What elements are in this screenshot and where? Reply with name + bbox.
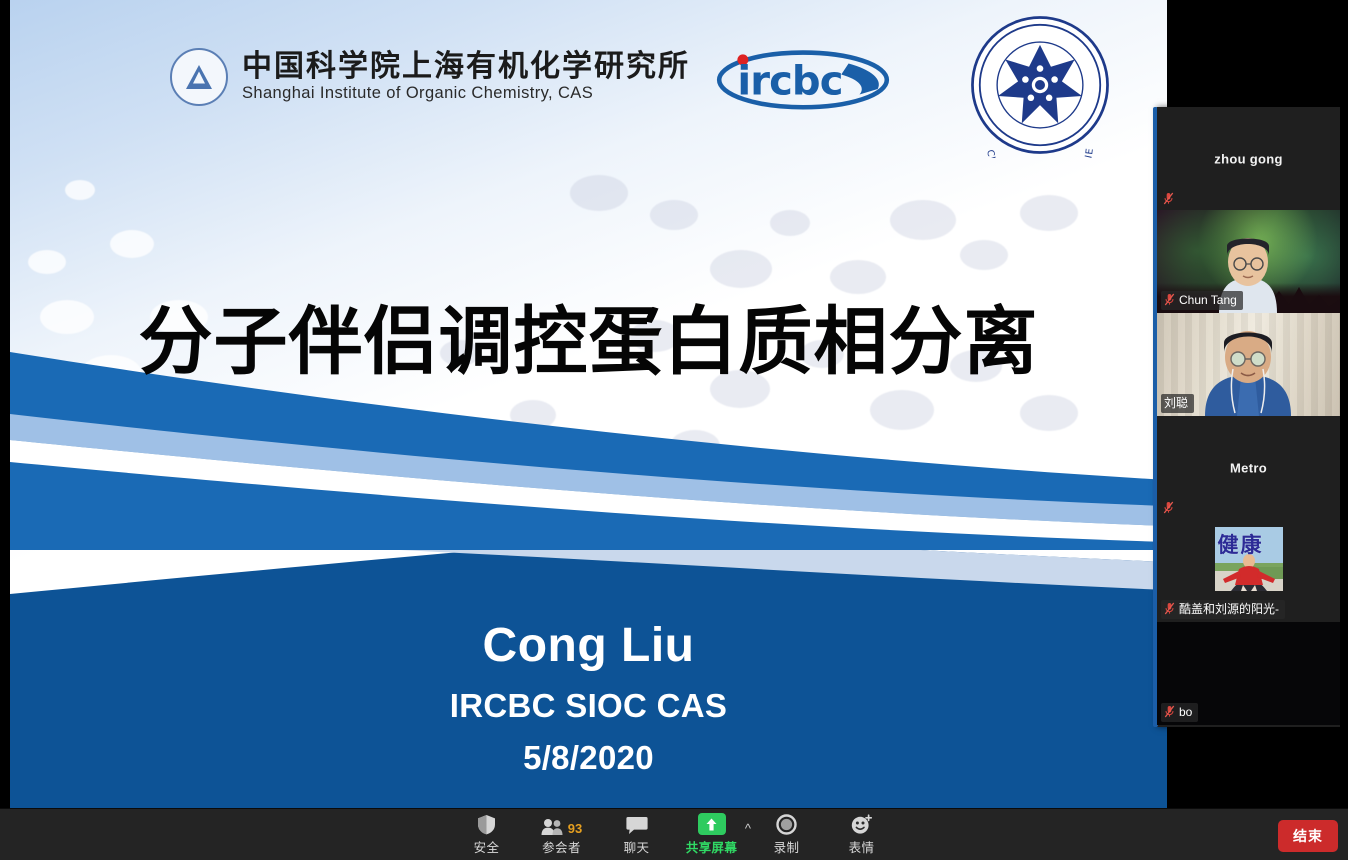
toolbar-label: 参会者 <box>542 837 581 856</box>
mic-off-icon <box>1164 602 1175 615</box>
people-icon: 93 <box>541 814 582 835</box>
presentation-slide: 中国科学院上海有机化学研究所 Shanghai Institute of Org… <box>10 0 1167 808</box>
participant-tile-chun-tang[interactable]: Chun Tang <box>1157 210 1340 313</box>
participant-filmstrip[interactable]: zhou gong <box>1157 107 1340 727</box>
toolbar-button-reactions[interactable]: 表情 <box>824 809 899 860</box>
mic-off-icon <box>1164 705 1175 718</box>
participant-name: 酷盖和刘源的阳光- <box>1179 601 1279 617</box>
toolbar-button-participants[interactable]: 93 参会者 <box>524 809 599 860</box>
zoom-meeting-window: 中国科学院上海有机化学研究所 Shanghai Institute of Org… <box>0 0 1348 860</box>
toolbar-label: 安全 <box>474 837 500 856</box>
participant-avatar: 健康 <box>1215 527 1283 591</box>
avatar-overlay-text: 健康 <box>1218 529 1280 559</box>
presentation-date: 5/8/2020 <box>10 739 1167 777</box>
participant-name-badge: 酷盖和刘源的阳光- <box>1161 600 1285 619</box>
mute-badge <box>1161 191 1180 207</box>
slide-speaker-block: Cong Liu IRCBC SIOC CAS 5/8/2020 <box>10 618 1167 777</box>
sioc-logo-chinese: 中国科学院上海有机化学研究所 <box>242 52 690 83</box>
shield-icon <box>477 814 496 835</box>
mic-off-icon <box>1163 192 1174 205</box>
end-meeting-button[interactable]: 结束 <box>1278 820 1338 852</box>
svg-text:ircbc: ircbc <box>737 58 842 104</box>
participant-name: zhou gong <box>1157 151 1340 166</box>
participant-tile-zhou-gong[interactable]: zhou gong <box>1157 107 1340 210</box>
cas-logo: CHINESE ACADEMY OF SCIENCES <box>962 12 1118 158</box>
mic-off-icon <box>1164 293 1175 306</box>
participant-name-badge: bo <box>1161 703 1198 722</box>
participant-count-badge: 93 <box>568 822 582 835</box>
slide-logo-row: 中国科学院上海有机化学研究所 Shanghai Institute of Org… <box>10 0 1167 170</box>
toolbar-label: 表情 <box>849 837 875 856</box>
speaker-affiliation: IRCBC SIOC CAS <box>10 687 1167 725</box>
meeting-toolbar: 安全 93 参会者 <box>0 808 1348 860</box>
toolbar-label: 录制 <box>774 837 800 856</box>
sioc-logo-english: Shanghai Institute of Organic Chemistry,… <box>242 85 690 102</box>
sioc-seal-icon <box>170 48 228 106</box>
sioc-logo: 中国科学院上海有机化学研究所 Shanghai Institute of Org… <box>170 48 690 106</box>
record-circle-icon <box>776 814 797 835</box>
participant-tile-metro[interactable]: Metro <box>1157 416 1340 519</box>
smiley-plus-icon <box>851 814 872 835</box>
toolbar-button-security[interactable]: 安全 <box>449 809 524 860</box>
toolbar-label: 共享屏幕 <box>686 837 738 856</box>
participant-name-badge: 刘聪 <box>1161 394 1194 413</box>
participant-name: 刘聪 <box>1164 395 1188 411</box>
participant-name-badge: Chun Tang <box>1161 291 1243 310</box>
speaker-name: Cong Liu <box>10 618 1167 673</box>
participant-tile-kugai[interactable]: 健康 酷盖和刘源的阳光- <box>1157 519 1340 622</box>
participant-name: Metro <box>1157 460 1340 475</box>
share-up-arrow-icon <box>698 814 726 835</box>
ircbc-logo: ircbc <box>710 38 896 120</box>
mic-off-icon <box>1163 501 1174 514</box>
shared-screen-stage: 中国科学院上海有机化学研究所 Shanghai Institute of Org… <box>0 0 1348 808</box>
chat-bubble-icon <box>626 814 648 835</box>
participant-name: bo <box>1179 704 1192 720</box>
toolbar-button-record[interactable]: 录制 <box>749 809 824 860</box>
participant-name: Chun Tang <box>1179 292 1237 308</box>
mute-badge <box>1161 500 1180 516</box>
toolbar-button-chat[interactable]: 聊天 <box>599 809 674 860</box>
participant-tile-liucong[interactable]: 刘聪 <box>1157 313 1340 416</box>
slide-title: 分子伴侣调控蛋白质相分离 <box>10 305 1167 379</box>
toolbar-label: 聊天 <box>624 837 650 856</box>
toolbar-button-share-screen[interactable]: 共享屏幕 ^ <box>674 809 749 860</box>
participant-tile-bo[interactable]: bo <box>1157 622 1340 725</box>
